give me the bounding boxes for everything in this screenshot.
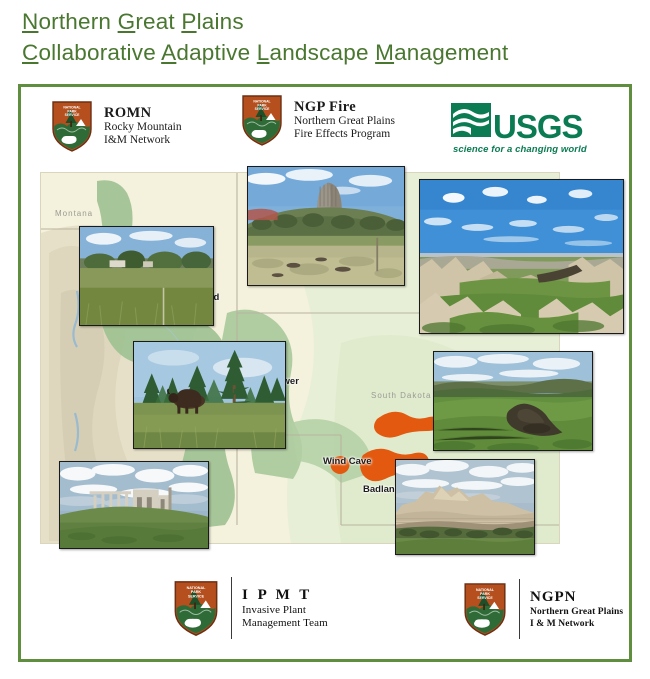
- page-title: Northern Great Plains Collaborative Adap…: [22, 6, 632, 68]
- nps-arrowhead-icon: NATIONAL PARK SERVICE: [171, 578, 221, 638]
- logo-ngpn[interactable]: NATIONAL PARK SERVICE NGPN Northern Grea…: [461, 579, 623, 639]
- title-line-1: Northern Great Plains: [22, 6, 632, 37]
- svg-text:SERVICE: SERVICE: [65, 113, 81, 117]
- photo-devils-tower[interactable]: [247, 166, 405, 286]
- logo-ngp-fire-sub2: Fire Effects Program: [294, 128, 395, 142]
- photo-fort-laramie[interactable]: [59, 461, 209, 549]
- state-label-south-dakota: South Dakota: [371, 391, 431, 400]
- usgs-wave-icon: [451, 103, 491, 142]
- logo-divider: [231, 577, 232, 639]
- logo-ngp-fire-text: NGP Fire Northern Great Plains Fire Effe…: [294, 99, 395, 142]
- logo-romn-name: ROMN: [104, 105, 182, 121]
- logo-romn-sub1: Rocky Mountain: [104, 121, 182, 135]
- logo-ipmt-sub2: Management Team: [242, 617, 328, 631]
- logo-ngp-fire-name: NGP Fire: [294, 99, 395, 115]
- nps-arrowhead-icon: NATIONAL PARK SERVICE: [49, 99, 95, 153]
- partner-logo-row: NATIONAL PARK SERVICE ROMN Rocky Mountai…: [21, 87, 629, 172]
- logo-ipmt[interactable]: NATIONAL PARK SERVICE I P M T Invasive P…: [171, 577, 328, 639]
- photo-scotts-bluff[interactable]: [395, 459, 535, 555]
- logo-ngpn-text: NGPN Northern Great Plains I & M Network: [530, 588, 623, 630]
- svg-text:SERVICE: SERVICE: [188, 594, 205, 598]
- logo-romn[interactable]: NATIONAL PARK SERVICE ROMN Rocky Mountai…: [49, 99, 182, 153]
- logo-divider: [519, 579, 520, 639]
- logo-usgs[interactable]: USGS science for a changing world: [451, 103, 587, 155]
- nps-arrowhead-icon: NATIONAL PARK SERVICE: [461, 580, 509, 638]
- logo-romn-text: ROMN Rocky Mountain I&M Network: [104, 105, 182, 148]
- nps-arrowhead-icon: NATIONAL PARK SERVICE: [239, 93, 285, 147]
- usgs-tagline: science for a changing world: [453, 144, 587, 155]
- logo-ngp-fire[interactable]: NATIONAL PARK SERVICE NGP Fire Northern …: [239, 93, 395, 147]
- logo-ngpn-sub2: I & M Network: [530, 618, 623, 630]
- logo-ngp-fire-sub1: Northern Great Plains: [294, 115, 395, 129]
- logo-ipmt-name: I P M T: [242, 586, 328, 604]
- map-label-wind-cave: Wind Cave: [323, 456, 371, 467]
- poster-root: Northern Great Plains Collaborative Adap…: [0, 0, 650, 679]
- svg-text:SERVICE: SERVICE: [477, 596, 493, 600]
- logo-ipmt-sub1: Invasive Plant: [242, 604, 328, 618]
- photo-wind-cave[interactable]: [133, 341, 286, 449]
- state-label-montana: Montana: [55, 209, 93, 218]
- svg-text:SERVICE: SERVICE: [255, 107, 271, 111]
- logo-ipmt-text: I P M T Invasive Plant Management Team: [242, 586, 328, 631]
- logo-romn-sub2: I&M Network: [104, 134, 182, 148]
- photo-little-bighorn[interactable]: [79, 226, 214, 326]
- photo-prairie-outcrop[interactable]: [433, 351, 593, 451]
- logo-ngpn-sub1: Northern Great Plains: [530, 606, 623, 618]
- logo-ngpn-name: NGPN: [530, 588, 623, 606]
- title-line-2: Collaborative Adaptive Landscape Managem…: [22, 37, 632, 68]
- photo-badlands[interactable]: [419, 179, 624, 334]
- usgs-wordmark: USGS: [493, 111, 583, 142]
- content-frame: NATIONAL PARK SERVICE ROMN Rocky Mountai…: [18, 84, 632, 662]
